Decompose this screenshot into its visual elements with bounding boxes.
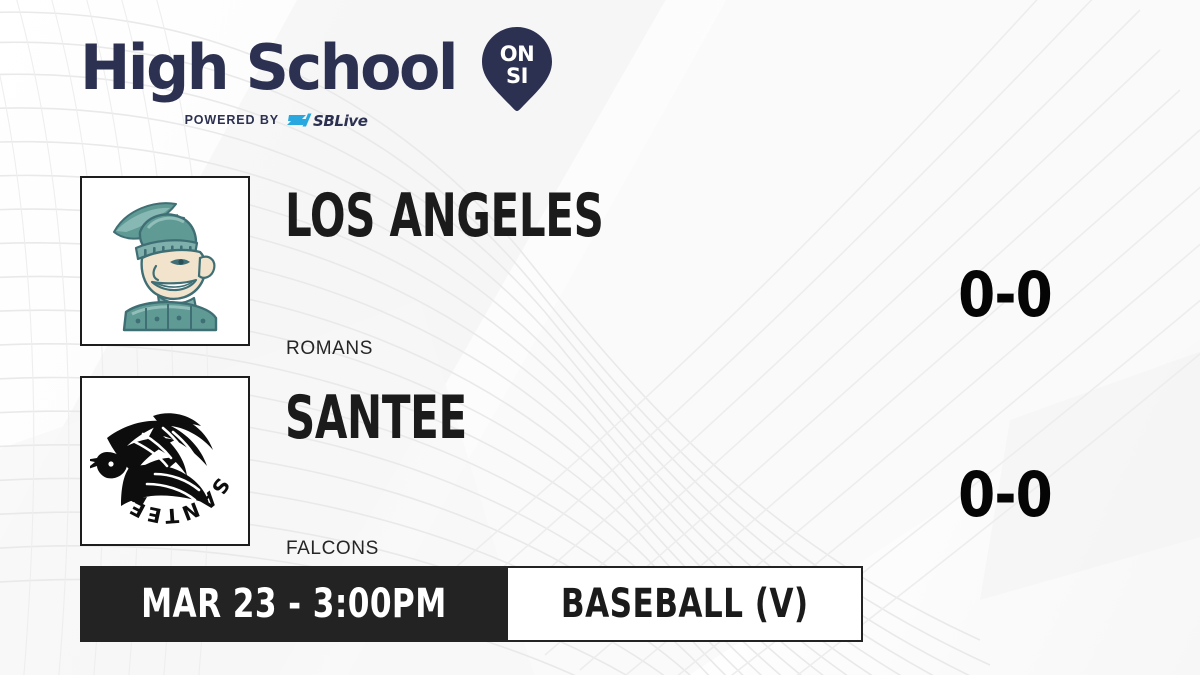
team-name-home: LOS ANGELES <box>285 186 604 246</box>
santee-falcon-circle-icon: SANTEE <box>90 386 240 536</box>
team-mascot-away: FALCONS <box>286 538 379 560</box>
team-mascot-home: ROMANS <box>286 338 373 360</box>
team-logo-romans <box>80 176 250 346</box>
powered-by-row: POWERED BY SBLive <box>80 110 510 130</box>
game-sport-block: BASEBALL (V) <box>508 566 863 642</box>
romans-trojan-head-icon <box>90 186 240 336</box>
sblive-wordmark: SBLive <box>313 112 368 130</box>
team-score-home: 0-0 <box>932 264 1078 326</box>
on-si-pin-icon: ON SI <box>482 27 552 111</box>
brand-title: High School <box>80 35 456 101</box>
game-datetime-block: MAR 23 - 3:00PM <box>80 566 508 642</box>
team-row-away: SANTEE SANTEE FALCONS 0-0 <box>80 376 1120 546</box>
team-name-away: SANTEE <box>285 388 467 448</box>
pin-label-bottom: SI <box>506 64 528 88</box>
game-sport-text: BASEBALL (V) <box>561 584 809 624</box>
team-row-home: LOS ANGELES ROMANS 0-0 <box>80 176 1120 346</box>
game-info-bar: MAR 23 - 3:00PM BASEBALL (V) <box>80 566 863 642</box>
powered-by-label: POWERED BY <box>185 113 279 127</box>
pin-label-top: ON <box>500 42 534 66</box>
game-datetime-text: MAR 23 - 3:00PM <box>141 584 447 624</box>
brand-row: High School ON SI <box>80 30 510 106</box>
matchup-graphic: High School ON SI POWERED BY SBLive <box>0 0 1200 675</box>
brand-lockup: High School ON SI POWERED BY SBLive <box>80 30 510 138</box>
sblive-logo-icon: SBLive <box>287 110 382 130</box>
team-score-away: 0-0 <box>932 464 1078 526</box>
team-logo-falcons: SANTEE <box>80 376 250 546</box>
